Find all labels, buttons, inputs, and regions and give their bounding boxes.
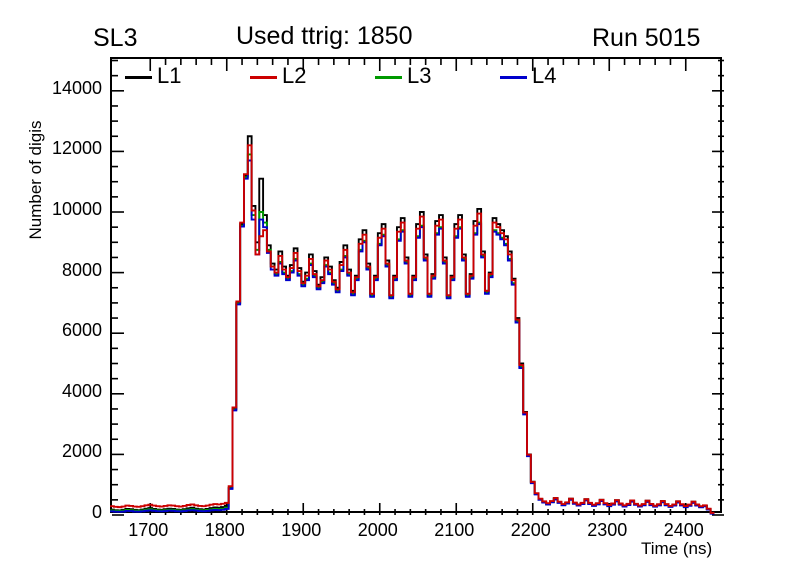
legend-label-l2: L2 — [282, 63, 306, 89]
y-axis-title-wrap: Number of digis — [26, 100, 46, 260]
superlayer-label: SL3 — [93, 24, 137, 53]
y-tick-label: 2000 — [10, 441, 102, 462]
legend-swatch-l2 — [250, 76, 277, 79]
legend-swatch-l4 — [500, 76, 527, 79]
y-tick-label: 12000 — [10, 138, 102, 159]
legend-label-l4: L4 — [532, 63, 556, 89]
root-canvas: SL3 Used ttrig: 1850 Run 5015 Number of … — [0, 0, 796, 572]
y-tick-label: 10000 — [10, 199, 102, 220]
y-tick-label: 4000 — [10, 381, 102, 402]
legend-label-l3: L3 — [407, 63, 431, 89]
ttrig-title: Used ttrig: 1850 — [236, 22, 413, 51]
y-tick-label: 0 — [10, 502, 102, 523]
plot-frame — [110, 57, 722, 513]
legend-swatch-l3 — [375, 76, 402, 79]
x-axis-title: Time (ns) — [641, 539, 712, 559]
x-tick-label: 2400 — [639, 520, 729, 541]
series-line-l4 — [110, 161, 714, 514]
series-line-l3 — [110, 154, 714, 513]
series-line-l1 — [110, 136, 714, 513]
legend-label-l1: L1 — [157, 63, 181, 89]
histogram-curves — [112, 59, 724, 515]
y-tick-label: 6000 — [10, 320, 102, 341]
y-tick-label: 14000 — [10, 78, 102, 99]
series-line-l2 — [110, 145, 714, 513]
legend-swatch-l1 — [125, 76, 152, 79]
y-tick-label: 8000 — [10, 260, 102, 281]
run-number-label: Run 5015 — [592, 24, 700, 53]
